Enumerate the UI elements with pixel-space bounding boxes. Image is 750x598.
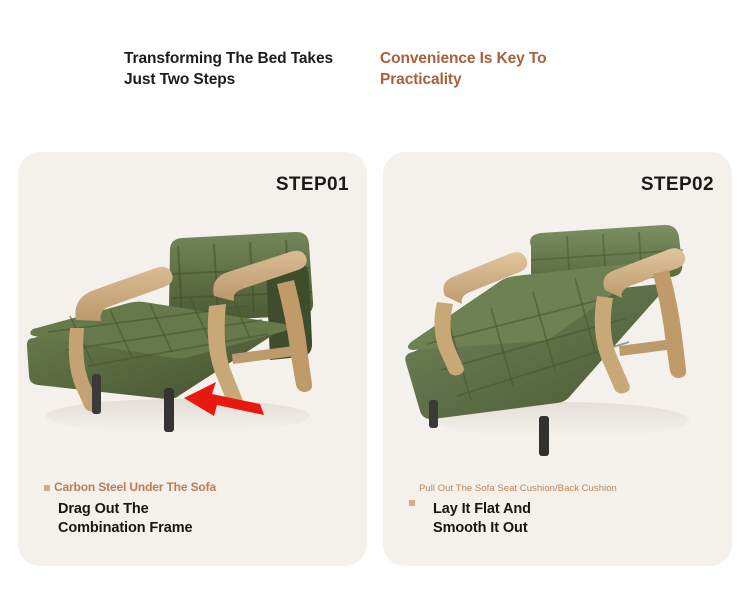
caption-subtitle-text-2: Pull Out The Sofa Seat Cushion/Back Cush… (419, 483, 617, 494)
page-title-accent: Convenience Is Key To Practicality (380, 48, 590, 91)
caption-block-1: Carbon Steel Under The Sofa Drag Out The… (44, 480, 344, 538)
caption-main-2: Lay It Flat And Smooth It Out (409, 500, 709, 538)
sofa-folded-icon (18, 204, 367, 472)
sofa-illustration-step2 (383, 204, 732, 472)
headings-row: Transforming The Bed Takes Just Two Step… (124, 48, 724, 91)
caption-main-line2-1: Combination Frame (58, 519, 344, 538)
step-card-1[interactable]: STEP01 (18, 152, 367, 566)
sofa-illustration-step1 (18, 204, 367, 472)
sofa-flat-bed-icon (383, 204, 732, 472)
caption-subtitle-1: Carbon Steel Under The Sofa (44, 480, 344, 495)
caption-subtitle-2: Pull Out The Sofa Seat Cushion/Back Cush… (409, 483, 621, 495)
caption-block-2: Pull Out The Sofa Seat Cushion/Back Cush… (409, 483, 709, 538)
step-label-1: STEP01 (276, 174, 349, 196)
bullet-square-icon (409, 500, 415, 506)
caption-main-line2-2: Smooth It Out (433, 519, 709, 538)
caption-subtitle-text-1: Carbon Steel Under The Sofa (54, 480, 216, 494)
page-title-primary: Transforming The Bed Takes Just Two Step… (124, 48, 358, 91)
caption-main-1: Drag Out The Combination Frame (44, 500, 344, 538)
step-cards-container: STEP01 (18, 152, 732, 566)
bullet-square-icon (44, 485, 50, 491)
caption-main-line1-1: Drag Out The (58, 500, 344, 519)
caption-main-line1-2: Lay It Flat And (433, 500, 709, 519)
step-card-2[interactable]: STEP02 (383, 152, 732, 566)
step-label-2: STEP02 (641, 174, 714, 196)
